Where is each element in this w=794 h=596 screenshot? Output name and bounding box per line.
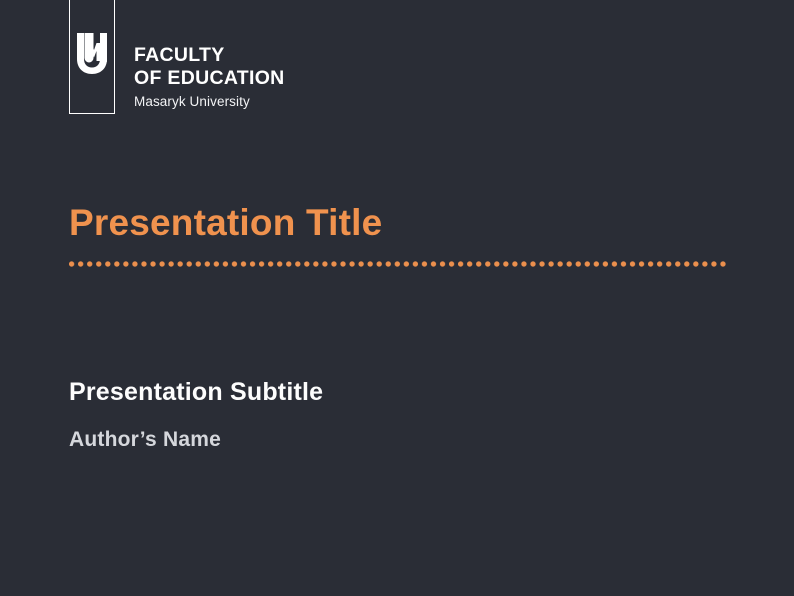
logo-line-of-education: OF EDUCATION bbox=[134, 67, 285, 90]
page-title: Presentation Title bbox=[69, 203, 382, 244]
logo-wordmark: FACULTY OF EDUCATION Masaryk University bbox=[134, 44, 285, 109]
page-subtitle: Presentation Subtitle bbox=[69, 378, 323, 407]
logo-frame bbox=[69, 0, 115, 114]
presentation-title-slide: FACULTY OF EDUCATION Masaryk University … bbox=[0, 0, 794, 596]
logo-line-faculty: FACULTY bbox=[134, 44, 285, 67]
masaryk-university-mu-monogram-icon bbox=[77, 33, 107, 75]
faculty-logo: FACULTY OF EDUCATION Masaryk University bbox=[69, 0, 285, 114]
logo-institution-name: Masaryk University bbox=[134, 95, 285, 109]
author-name: Author’s Name bbox=[69, 428, 221, 452]
dotted-divider bbox=[69, 261, 728, 267]
